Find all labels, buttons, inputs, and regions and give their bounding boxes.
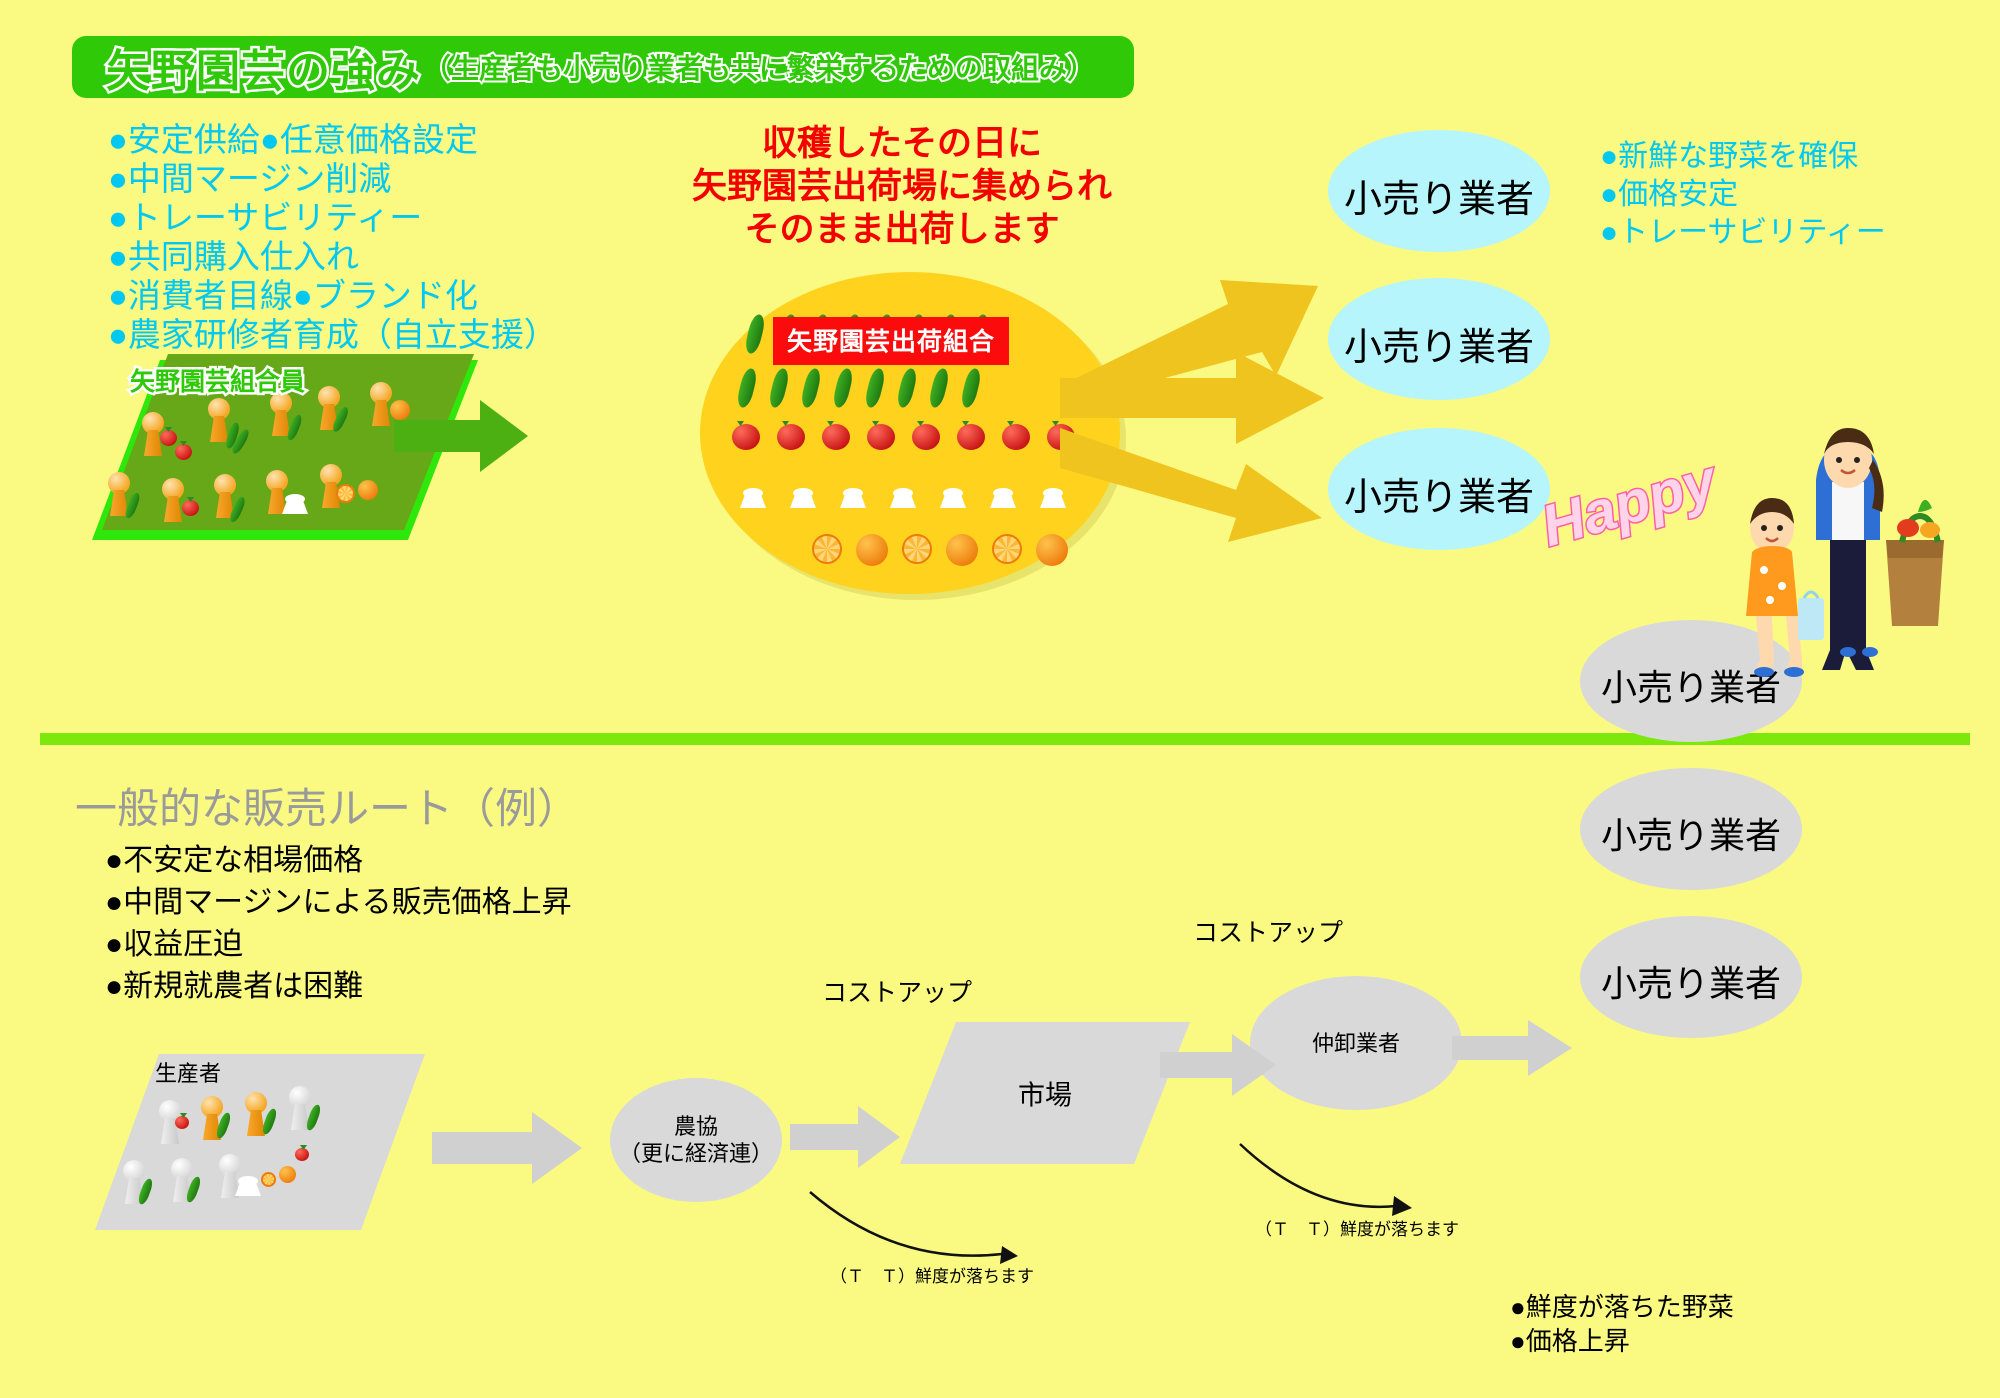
page-title: 矢野園芸の強み (106, 35, 421, 99)
title-bar: 矢野園芸の強み （生産者も小売り業者も共に繁栄するための取組み） (72, 36, 1134, 98)
retailer-node: 小売り業者 (1328, 428, 1550, 550)
enoki-mushroom-icon (940, 482, 978, 520)
retailer-node: 小売り業者 (1328, 278, 1550, 400)
strengths-bullet-list: ●安定供給●任意価格設定 ●中間マージン削減 ●トレーサビリティー ●共同購入仕… (108, 120, 557, 354)
list-item: ●不安定な相場価格 (105, 840, 572, 882)
list-item: ●共同購入仕入れ (108, 237, 557, 276)
list-item: ●価格上昇 (1510, 1324, 1734, 1358)
cucumber-icon (735, 367, 758, 409)
arrow-right-icon (790, 1106, 900, 1168)
tomato-icon (957, 424, 985, 450)
nokyo-node: 農協 （更に経済連） (610, 1078, 782, 1202)
field-shape (95, 1048, 425, 1238)
enoki-mushroom-icon (890, 482, 928, 520)
mother-and-child-icon (1680, 420, 1980, 680)
cucumber-icon (743, 313, 766, 355)
retailer-label: 小売り業者 (1601, 955, 1781, 1007)
tomato-row (732, 424, 1075, 450)
farmer-figure-icon (160, 478, 186, 522)
orange-fruit-icon (946, 534, 978, 566)
retailer-label: 小売り業者 (1344, 466, 1534, 521)
list-item: ●トレーサビリティー (1600, 214, 1886, 252)
center-headline: 収穫したその日に 矢野園芸出荷場に集められ そのまま出荷します (672, 122, 1132, 251)
tomato-icon (867, 424, 895, 450)
list-item: ●中間マージン削減 (108, 159, 557, 198)
list-item: ●トレーサビリティー (108, 198, 557, 237)
farmer-figure-icon (368, 382, 394, 426)
arrow-right-icon (394, 400, 528, 472)
curved-arrow-icon (806, 1188, 1036, 1278)
negative-outcome-list: ●鮮度が落ちた野菜 ●価格上昇 (1510, 1290, 1734, 1358)
cucumber-icon (767, 367, 790, 409)
general-route-issues-list: ●不安定な相場価格 ●中間マージンによる販売価格上昇 ●収益圧迫 ●新規就農者は… (105, 840, 572, 1008)
headline-line: そのまま出荷します (672, 208, 1132, 251)
cost-up-label: コストアップ (822, 973, 972, 1009)
headline-line: 収穫したその日に (672, 122, 1132, 165)
headline-line: 矢野園芸出荷場に集められ (672, 165, 1132, 208)
producer-field-bottom: 生産者 (95, 1048, 425, 1238)
cost-up-label: コストアップ (1193, 913, 1343, 949)
retailer-node: 小売り業者 (1328, 130, 1550, 252)
tomato-icon (1002, 424, 1030, 450)
list-item: ●価格安定 (1600, 176, 1886, 214)
cucumber-icon (927, 367, 950, 409)
enoki-mushroom-icon (990, 482, 1028, 520)
enoki-mushroom-icon (790, 482, 828, 520)
list-item: ●新規就農者は困難 (105, 966, 572, 1008)
retailer-label: 小売り業者 (1344, 168, 1534, 223)
list-item: ●中間マージンによる販売価格上昇 (105, 882, 572, 924)
retailer-benefits-list: ●新鮮な野菜を確保 ●価格安定 ●トレーサビリティー (1600, 138, 1886, 252)
market-label: 市場 (900, 1074, 1190, 1113)
orange-row (812, 534, 1068, 566)
section-heading-general-route: 一般的な販売ルート（例） (75, 775, 579, 836)
tomato-icon (912, 424, 940, 450)
orange-fruit-icon (358, 480, 378, 500)
wholesaler-node: 仲卸業者 (1250, 976, 1462, 1110)
cucumber-icon (863, 367, 886, 409)
field-label-bottom: 生産者 (155, 1056, 221, 1088)
cucumber-row (740, 368, 978, 408)
tomato-icon (182, 500, 199, 516)
arrow-right-icon (1452, 1020, 1572, 1076)
retailer-label: 小売り業者 (1601, 807, 1781, 859)
tomato-icon (295, 1148, 309, 1161)
curved-arrow-icon (1236, 1140, 1426, 1230)
cucumber-icon (895, 367, 918, 409)
retailer-node: 小売り業者 (1580, 768, 1802, 890)
orange-slice-icon (812, 534, 842, 564)
tomato-icon (777, 424, 805, 450)
orange-fruit-icon (856, 534, 888, 566)
orange-slice-icon (992, 534, 1022, 564)
enoki-mushroom-icon (840, 482, 878, 520)
arrow-right-icon (1160, 1034, 1276, 1096)
cucumber-icon (799, 367, 822, 409)
enoki-mushroom-icon (282, 488, 308, 514)
enoki-mushroom-icon (740, 482, 778, 520)
enoki-mushroom-icon (235, 1170, 255, 1190)
status-badge-shipping-union: 矢野園芸出荷組合 (773, 317, 1009, 365)
field-label-top: 矢野園芸組合員 (130, 362, 305, 398)
cucumber-icon (831, 367, 854, 409)
market-node: 市場 (900, 1014, 1190, 1172)
infographic-page: 矢野園芸の強み （生産者も小売り業者も共に繁栄するための取組み） ●安定供給●任… (0, 0, 2000, 1398)
tomato-icon (175, 1116, 189, 1129)
list-item: ●新鮮な野菜を確保 (1600, 138, 1886, 176)
retailer-label: 小売り業者 (1344, 316, 1534, 371)
retailer-node: 小売り業者 (1580, 916, 1802, 1038)
tomato-icon (732, 424, 760, 450)
page-subtitle: （生産者も小売り業者も共に繁栄するための取組み） (423, 47, 1095, 87)
orange-fruit-icon (279, 1166, 296, 1183)
list-item: ●収益圧迫 (105, 924, 572, 966)
tomato-icon (822, 424, 850, 450)
tomato-icon (160, 430, 177, 446)
shipping-union-label: 矢野園芸出荷組合 (787, 328, 995, 356)
list-item: ●消費者目線●ブランド化 (108, 276, 557, 315)
list-item: ●農家研修者育成（自立支援） (108, 315, 557, 354)
orange-slice-icon (261, 1172, 276, 1187)
nokyo-label: 農協 （更に経済連） (619, 1113, 773, 1167)
arrow-right-icon (432, 1112, 582, 1184)
list-item: ●鮮度が落ちた野菜 (1510, 1290, 1734, 1324)
tomato-icon (175, 444, 192, 460)
cucumber-icon (959, 367, 982, 409)
orange-slice-icon (902, 534, 932, 564)
arrow-right-icon (1060, 418, 1324, 548)
wholesaler-label: 仲卸業者 (1312, 1030, 1400, 1057)
enoki-row (740, 482, 1078, 520)
list-item: ●安定供給●任意価格設定 (108, 120, 557, 159)
orange-slice-icon (336, 484, 355, 503)
